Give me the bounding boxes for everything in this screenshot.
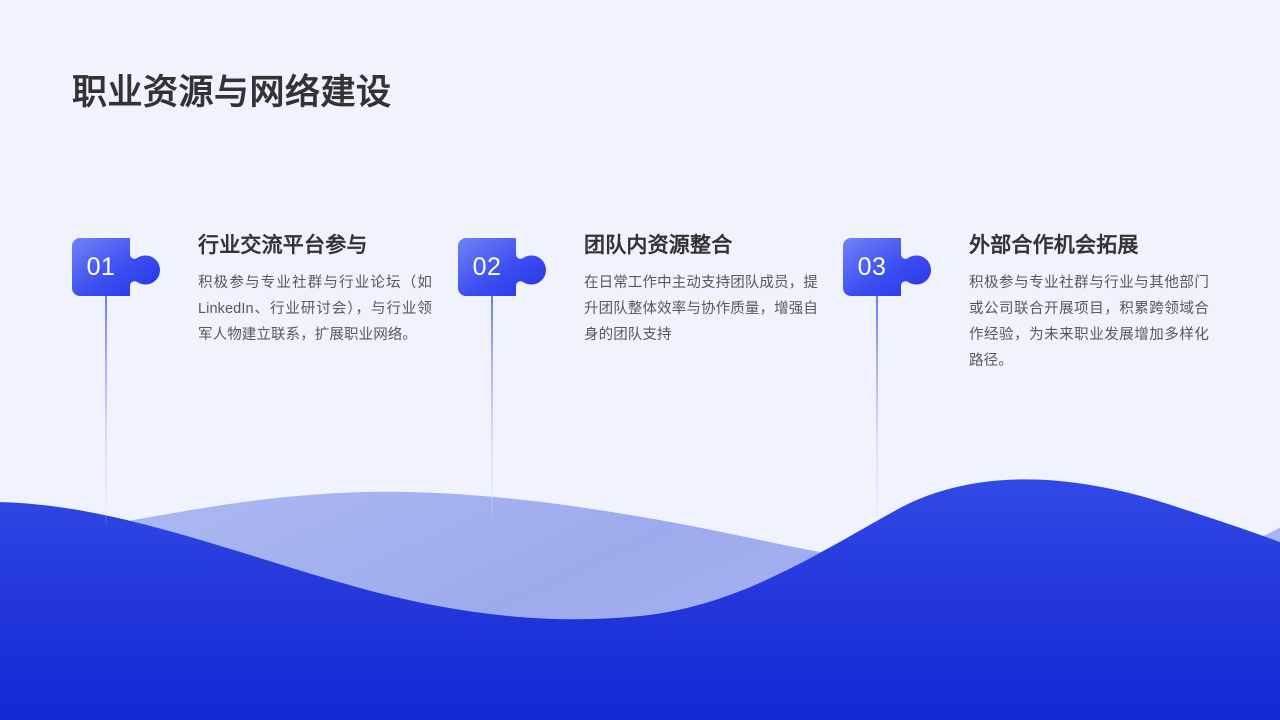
card-heading: 外部合作机会拓展 <box>969 232 1209 259</box>
card-connector-line <box>105 296 107 528</box>
card-text-block: 外部合作机会拓展 积极参与专业社群与行业与其他部门或公司联合开展项目，积累跨领域… <box>969 232 1209 374</box>
card-connector-line <box>876 296 878 528</box>
card-number: 03 <box>843 238 901 296</box>
card-heading: 行业交流平台参与 <box>198 232 432 259</box>
card-connector-line <box>491 296 493 528</box>
card-number: 01 <box>72 238 130 296</box>
slide-root: 职业资源与网络建设 01 行业交 <box>0 0 1280 720</box>
puzzle-badge: 01 <box>72 238 180 298</box>
card-description: 积极参与专业社群与行业与其他部门或公司联合开展项目，积累跨领域合作经验，为未来职… <box>969 271 1209 374</box>
cards-row: 01 行业交流平台参与 积极参与专业社群与行业论坛（如LinkedIn、行业研讨… <box>0 232 1280 532</box>
card-text-block: 团队内资源整合 在日常工作中主动支持团队成员，提升团队整体效率与协作质量，增强自… <box>584 232 818 349</box>
card-number: 02 <box>458 238 516 296</box>
card-text-block: 行业交流平台参与 积极参与专业社群与行业论坛（如LinkedIn、行业研讨会），… <box>198 232 432 349</box>
puzzle-badge: 03 <box>843 238 951 298</box>
puzzle-badge: 02 <box>458 238 566 298</box>
card-description: 在日常工作中主动支持团队成员，提升团队整体效率与协作质量，增强自身的团队支持 <box>584 271 818 348</box>
card-description: 积极参与专业社群与行业论坛（如LinkedIn、行业研讨会），与行业领军人物建立… <box>198 271 432 348</box>
page-title: 职业资源与网络建设 <box>72 71 392 115</box>
card-heading: 团队内资源整合 <box>584 232 818 259</box>
